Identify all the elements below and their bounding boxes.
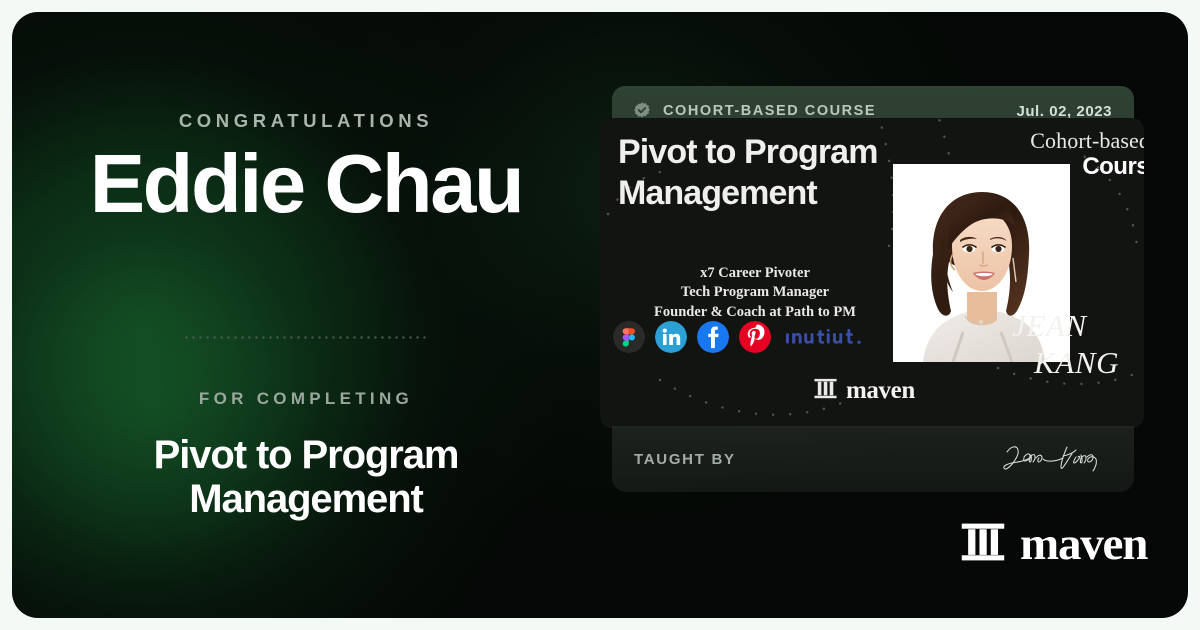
congratulations-label: CONGRATULATIONS xyxy=(12,110,600,132)
maven-column-logo xyxy=(960,519,1006,570)
intuit-logo xyxy=(786,329,864,346)
facebook-logo xyxy=(697,321,729,353)
course-title: Pivot to Program Management xyxy=(42,434,570,521)
for-completing-label: FOR COMPLETING xyxy=(12,389,600,409)
thumbnail-subtitle-line: Founder & Coach at Path to PM xyxy=(600,303,910,322)
course-date: Jul. 02, 2023 xyxy=(1016,103,1112,120)
instructor-signature xyxy=(1002,441,1110,477)
course-thumbnail: Pivot to Program Management x7 Career Pi… xyxy=(600,118,1144,428)
pinterest-logo xyxy=(739,321,771,353)
linkedin-logo xyxy=(655,321,687,353)
certificate-card: CONGRATULATIONS Eddie Chau FOR COMPLETIN… xyxy=(12,12,1188,618)
maven-wordmark: maven xyxy=(846,377,915,405)
course-preview-card[interactable]: COHORT-BASED COURSE Jul. 02, 2023 Pivot … xyxy=(600,74,1144,494)
certificate-details: CONGRATULATIONS Eddie Chau FOR COMPLETIN… xyxy=(12,12,600,618)
recipient-name: Eddie Chau xyxy=(12,143,600,225)
maven-logo-thumbnail: maven xyxy=(813,376,915,406)
cohort-badge-line1: Cohort-based xyxy=(970,128,1144,154)
dotted-divider xyxy=(183,336,429,339)
course-card-footer: TAUGHT BY xyxy=(612,426,1134,492)
cohort-based-course-kicker: COHORT-BASED COURSE xyxy=(663,103,876,119)
brand-logo-row xyxy=(613,321,864,353)
thumbnail-subtitle: x7 Career Pivoter Tech Program Manager F… xyxy=(600,264,910,322)
taught-by-label: TAUGHT BY xyxy=(634,451,736,468)
instructor-name-line2: KANG xyxy=(1012,345,1144,382)
thumbnail-title: Pivot to Program Management xyxy=(618,132,918,214)
thumbnail-subtitle-line: x7 Career Pivoter xyxy=(600,264,910,283)
instructor-name-line1: JEAN xyxy=(1012,308,1144,345)
figma-logo xyxy=(613,321,645,353)
maven-column-logo xyxy=(813,376,838,406)
thumbnail-subtitle-line: Tech Program Manager xyxy=(600,283,910,302)
maven-logo-footer: maven xyxy=(960,517,1147,571)
instructor-name: JEAN KANG xyxy=(1012,308,1144,381)
maven-wordmark: maven xyxy=(1020,517,1147,571)
